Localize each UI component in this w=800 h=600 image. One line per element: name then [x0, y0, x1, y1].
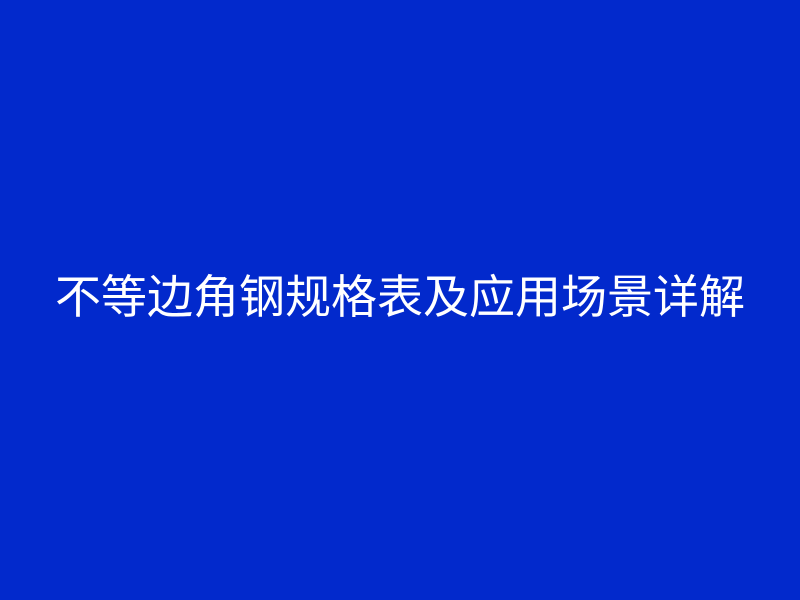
title-card-banner: 不等边角钢规格表及应用场景详解: [0, 0, 800, 600]
page-title: 不等边角钢规格表及应用场景详解: [24, 270, 776, 324]
title-block: 不等边角钢规格表及应用场景详解: [0, 270, 800, 324]
